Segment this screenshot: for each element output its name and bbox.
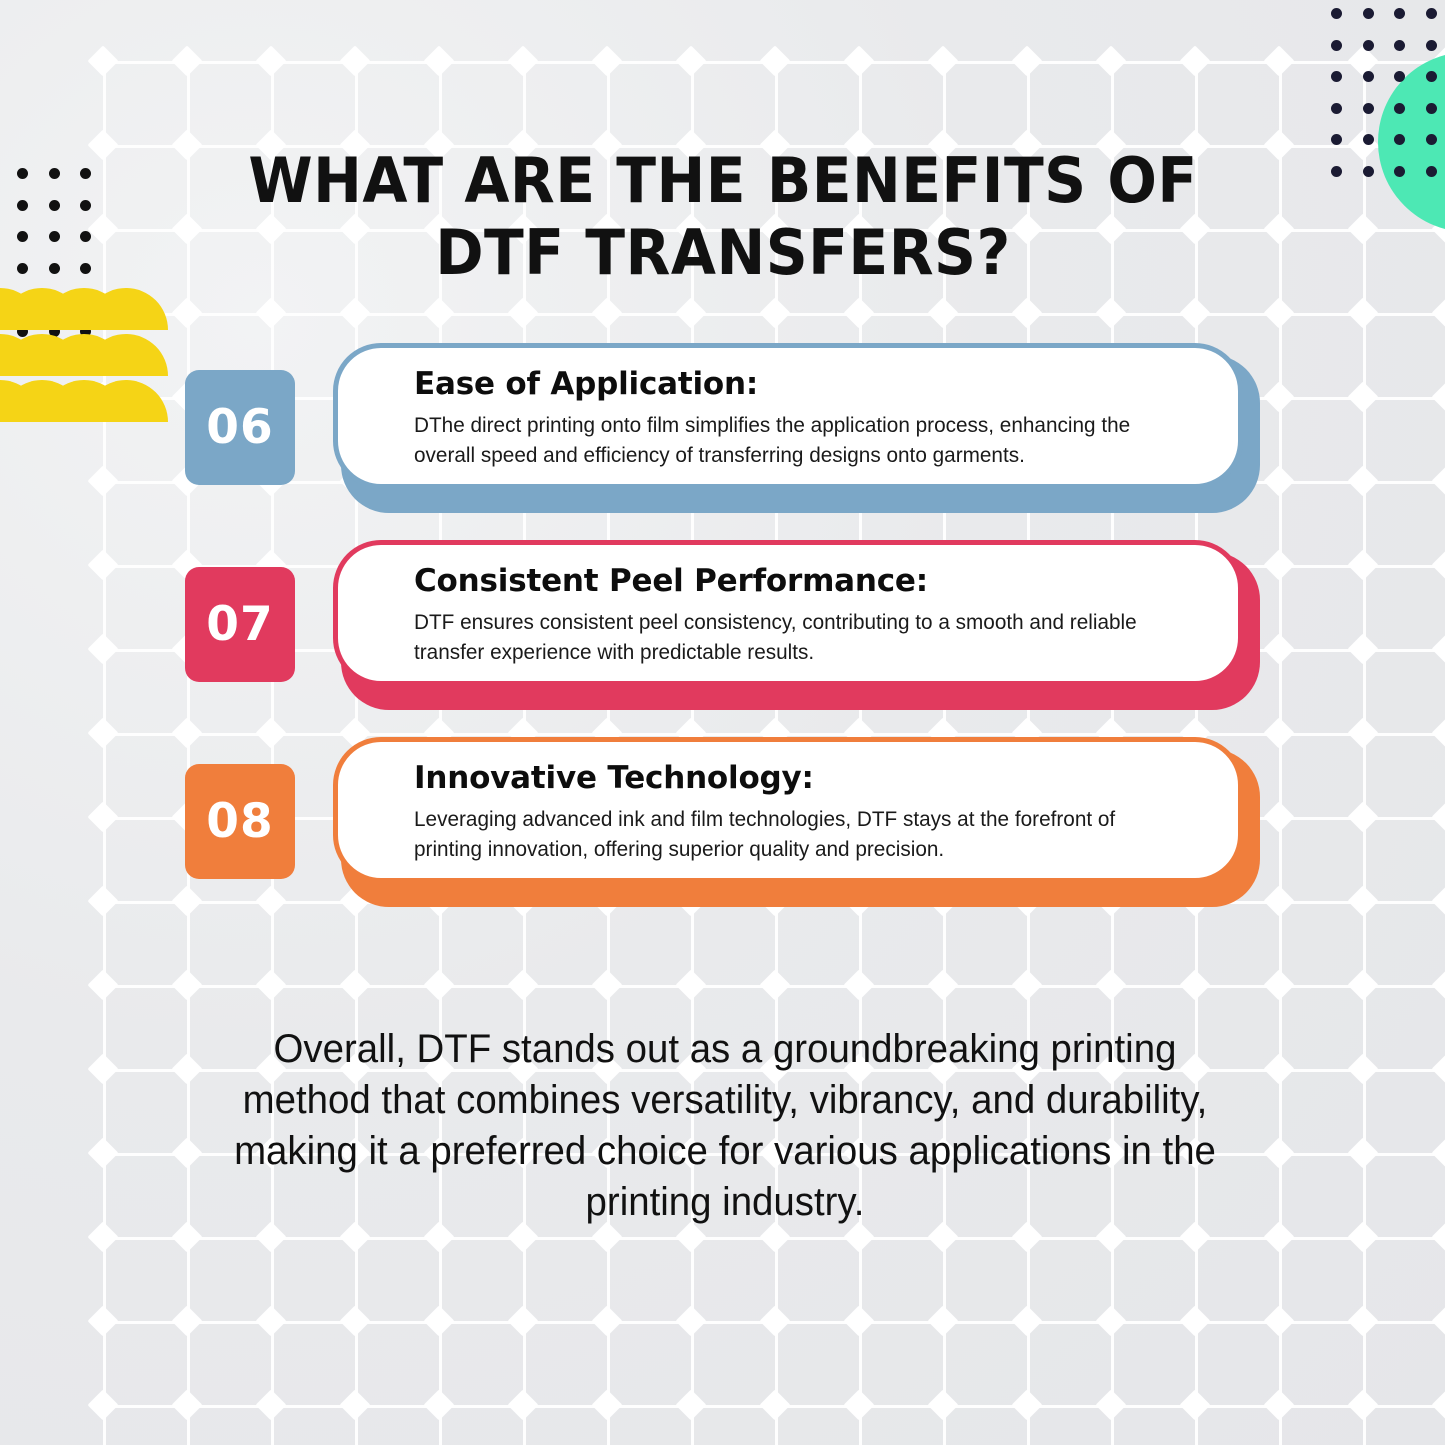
grid-diamond <box>1431 1221 1445 1252</box>
grid-diamond <box>1263 801 1294 832</box>
grid-diamond <box>1431 801 1445 832</box>
grid-diamond <box>87 129 118 160</box>
decorative-dot <box>1426 8 1437 19</box>
card-heading-07: Consistent Peel Performance: <box>414 561 1198 601</box>
grid-diamond <box>87 1389 118 1420</box>
grid-diamond <box>87 969 118 1000</box>
grid-diamond <box>1431 1137 1445 1168</box>
grid-diamond <box>1095 969 1126 1000</box>
grid-diamond <box>759 45 790 76</box>
grid-diamond <box>255 297 286 328</box>
grid-diamond <box>1347 381 1378 412</box>
decorative-dot <box>80 263 91 274</box>
decorative-dot <box>1426 103 1437 114</box>
grid-diamond <box>1095 1389 1126 1420</box>
grid-diamond <box>87 885 118 916</box>
grid-diamond <box>1263 1389 1294 1420</box>
decorative-dot <box>1331 40 1342 51</box>
grid-diamond <box>759 1305 790 1336</box>
grid-diamond <box>171 129 202 160</box>
grid-diamond <box>1431 549 1445 580</box>
decorative-dot <box>17 168 28 179</box>
grid-diamond <box>843 45 874 76</box>
grid-diamond <box>423 297 454 328</box>
grid-diamond <box>1347 213 1378 244</box>
grid-diamond <box>339 969 370 1000</box>
grid-diamond <box>1011 297 1042 328</box>
grid-diamond <box>1263 717 1294 748</box>
decorative-dot <box>1426 40 1437 51</box>
grid-diamond <box>1011 1305 1042 1336</box>
grid-diamond <box>171 1053 202 1084</box>
grid-diamond <box>171 297 202 328</box>
grid-diamond <box>843 1305 874 1336</box>
grid-diamond <box>171 969 202 1000</box>
grid-diamond <box>1431 717 1445 748</box>
grid-diamond <box>1263 1053 1294 1084</box>
benefit-card-07[interactable]: Consistent Peel Performance: DTF ensures… <box>333 540 1260 710</box>
grid-diamond <box>1347 801 1378 832</box>
grid-diamond <box>1431 885 1445 916</box>
grid-diamond <box>1431 633 1445 664</box>
card-body-06: Ease of Application: DThe direct printin… <box>333 343 1243 489</box>
grid-diamond <box>591 1389 622 1420</box>
number-badge-06-label: 06 <box>206 400 273 455</box>
grid-diamond <box>87 465 118 496</box>
grid-diamond <box>1431 297 1445 328</box>
grid-diamond <box>1263 549 1294 580</box>
number-badge-08: 08 <box>185 764 295 879</box>
grid-diamond <box>1263 465 1294 496</box>
grid-diamond <box>423 45 454 76</box>
infographic-canvas: WHAT ARE THE BENEFITS OF DTF TRANSFERS? … <box>0 0 1445 1445</box>
decorative-dot <box>1363 71 1374 82</box>
grid-diamond <box>507 969 538 1000</box>
grid-diamond <box>675 1389 706 1420</box>
number-badge-08-label: 08 <box>206 794 273 849</box>
grid-diamond <box>255 45 286 76</box>
decorative-dot <box>1363 8 1374 19</box>
grid-diamond <box>255 1389 286 1420</box>
decorative-dot <box>17 231 28 242</box>
grid-diamond <box>87 45 118 76</box>
decorative-dot <box>1426 71 1437 82</box>
grid-diamond <box>1431 1305 1445 1336</box>
grid-diamond <box>87 633 118 664</box>
grid-diamond <box>1347 1137 1378 1168</box>
grid-diamond <box>87 1137 118 1168</box>
grid-diamond <box>1179 1389 1210 1420</box>
decorative-dot <box>80 200 91 211</box>
grid-diamond <box>675 969 706 1000</box>
decorative-dot <box>49 200 60 211</box>
grid-diamond <box>1095 45 1126 76</box>
grid-diamond <box>1263 1137 1294 1168</box>
decorative-dot <box>1331 166 1342 177</box>
decorative-dot <box>1394 166 1405 177</box>
grid-diamond <box>1347 1389 1378 1420</box>
grid-diamond <box>423 1305 454 1336</box>
card-text-06: DThe direct printing onto film simplifie… <box>414 410 1171 470</box>
grid-diamond <box>1347 717 1378 748</box>
card-body-08: Innovative Technology: Leveraging advanc… <box>333 737 1243 883</box>
grid-diamond <box>171 1221 202 1252</box>
grid-diamond <box>1011 1389 1042 1420</box>
grid-diamond <box>927 1305 958 1336</box>
decorative-dot <box>1363 166 1374 177</box>
grid-diamond <box>591 969 622 1000</box>
grid-diamond <box>87 213 118 244</box>
decorative-dot <box>17 263 28 274</box>
grid-diamond <box>843 297 874 328</box>
grid-diamond <box>843 1389 874 1420</box>
decorative-dot <box>17 200 28 211</box>
grid-diamond <box>675 1305 706 1336</box>
decorative-dot <box>1363 40 1374 51</box>
grid-diamond <box>591 1305 622 1336</box>
grid-diamond <box>591 297 622 328</box>
grid-diamond <box>1011 45 1042 76</box>
decorative-dot <box>1331 134 1342 145</box>
decorative-dot <box>1331 8 1342 19</box>
grid-diamond <box>1179 297 1210 328</box>
grid-diamond <box>1179 45 1210 76</box>
grid-diamond <box>171 213 202 244</box>
decorative-dot <box>1394 40 1405 51</box>
card-heading-06: Ease of Application: <box>414 364 1198 404</box>
grid-diamond <box>1347 129 1378 160</box>
grid-diamond <box>1431 1389 1445 1420</box>
card-heading-08: Innovative Technology: <box>414 758 1198 798</box>
grid-diamond <box>87 1305 118 1336</box>
grid-diamond <box>927 45 958 76</box>
benefit-row-08: 08 Innovative Technology: Leveraging adv… <box>185 737 1260 907</box>
grid-diamond <box>1347 549 1378 580</box>
decorative-dot <box>49 231 60 242</box>
grid-diamond <box>1263 129 1294 160</box>
grid-diamond <box>87 717 118 748</box>
grid-diamond <box>1263 213 1294 244</box>
grid-diamond <box>339 1305 370 1336</box>
decorative-dot <box>1394 8 1405 19</box>
grid-diamond <box>87 1053 118 1084</box>
grid-diamond <box>759 969 790 1000</box>
benefit-row-06: 06 Ease of Application: DThe direct prin… <box>185 343 1260 513</box>
card-text-08: Leveraging advanced ink and film technol… <box>414 804 1171 864</box>
grid-diamond <box>171 1389 202 1420</box>
grid-diamond <box>1179 969 1210 1000</box>
grid-diamond <box>675 297 706 328</box>
grid-diamond <box>1347 633 1378 664</box>
grid-diamond <box>927 1389 958 1420</box>
grid-diamond <box>507 1389 538 1420</box>
grid-diamond <box>1263 381 1294 412</box>
grid-diamond <box>255 969 286 1000</box>
decorative-dot <box>1331 103 1342 114</box>
decorative-dot <box>1394 71 1405 82</box>
grid-diamond <box>1263 1305 1294 1336</box>
grid-diamond <box>1095 1305 1126 1336</box>
grid-diamond <box>87 801 118 832</box>
grid-diamond <box>1263 297 1294 328</box>
benefit-card-08[interactable]: Innovative Technology: Leveraging advanc… <box>333 737 1260 907</box>
grid-diamond <box>507 1305 538 1336</box>
grid-diamond <box>843 969 874 1000</box>
grid-diamond <box>507 297 538 328</box>
grid-diamond <box>1263 969 1294 1000</box>
grid-diamond <box>1263 885 1294 916</box>
number-badge-07: 07 <box>185 567 295 682</box>
grid-diamond <box>1347 885 1378 916</box>
decorative-dot <box>49 168 60 179</box>
page-title: WHAT ARE THE BENEFITS OF DTF TRANSFERS? <box>215 145 1230 289</box>
grid-diamond <box>423 1389 454 1420</box>
grid-diamond <box>1347 465 1378 496</box>
decorative-dot <box>80 168 91 179</box>
grid-diamond <box>1263 633 1294 664</box>
grid-diamond <box>1011 969 1042 1000</box>
grid-diamond <box>759 297 790 328</box>
grid-diamond <box>1431 381 1445 412</box>
grid-diamond <box>171 1305 202 1336</box>
decorative-dot <box>49 263 60 274</box>
benefit-row-07: 07 Consistent Peel Performance: DTF ensu… <box>185 540 1260 710</box>
decorative-dot <box>1426 134 1437 145</box>
card-text-07: DTF ensures consistent peel consistency,… <box>414 607 1171 667</box>
number-badge-06: 06 <box>185 370 295 485</box>
benefit-card-06[interactable]: Ease of Application: DThe direct printin… <box>333 343 1260 513</box>
grid-diamond <box>171 1137 202 1168</box>
grid-diamond <box>1431 1053 1445 1084</box>
grid-diamond <box>1347 1221 1378 1252</box>
decorative-dot <box>1426 166 1437 177</box>
grid-diamond <box>87 549 118 580</box>
grid-diamond <box>339 1389 370 1420</box>
grid-diamond <box>1095 297 1126 328</box>
decorative-dot <box>1394 103 1405 114</box>
grid-diamond <box>255 1305 286 1336</box>
grid-diamond <box>339 297 370 328</box>
closing-paragraph: Overall, DTF stands out as a groundbreak… <box>211 1024 1238 1228</box>
grid-diamond <box>1263 45 1294 76</box>
decorative-dot <box>1363 103 1374 114</box>
decorative-dot <box>1363 134 1374 145</box>
number-badge-07-label: 07 <box>206 597 273 652</box>
grid-diamond <box>1347 1053 1378 1084</box>
grid-diamond <box>171 45 202 76</box>
grid-diamond <box>1179 1305 1210 1336</box>
decorative-dot <box>1394 134 1405 145</box>
grid-diamond <box>507 45 538 76</box>
grid-diamond <box>1347 969 1378 1000</box>
grid-diamond <box>423 969 454 1000</box>
decorative-dot <box>80 231 91 242</box>
grid-diamond <box>1431 465 1445 496</box>
grid-diamond <box>1263 1221 1294 1252</box>
grid-diamond <box>339 45 370 76</box>
grid-diamond <box>759 1389 790 1420</box>
grid-diamond <box>87 1221 118 1252</box>
grid-diamond <box>927 969 958 1000</box>
grid-diamond <box>1431 969 1445 1000</box>
grid-diamond <box>1347 45 1378 76</box>
grid-diamond <box>591 45 622 76</box>
decorative-dot <box>1331 71 1342 82</box>
card-body-07: Consistent Peel Performance: DTF ensures… <box>333 540 1243 686</box>
grid-diamond <box>1347 297 1378 328</box>
grid-diamond <box>1347 1305 1378 1336</box>
grid-diamond <box>927 297 958 328</box>
grid-diamond <box>675 45 706 76</box>
